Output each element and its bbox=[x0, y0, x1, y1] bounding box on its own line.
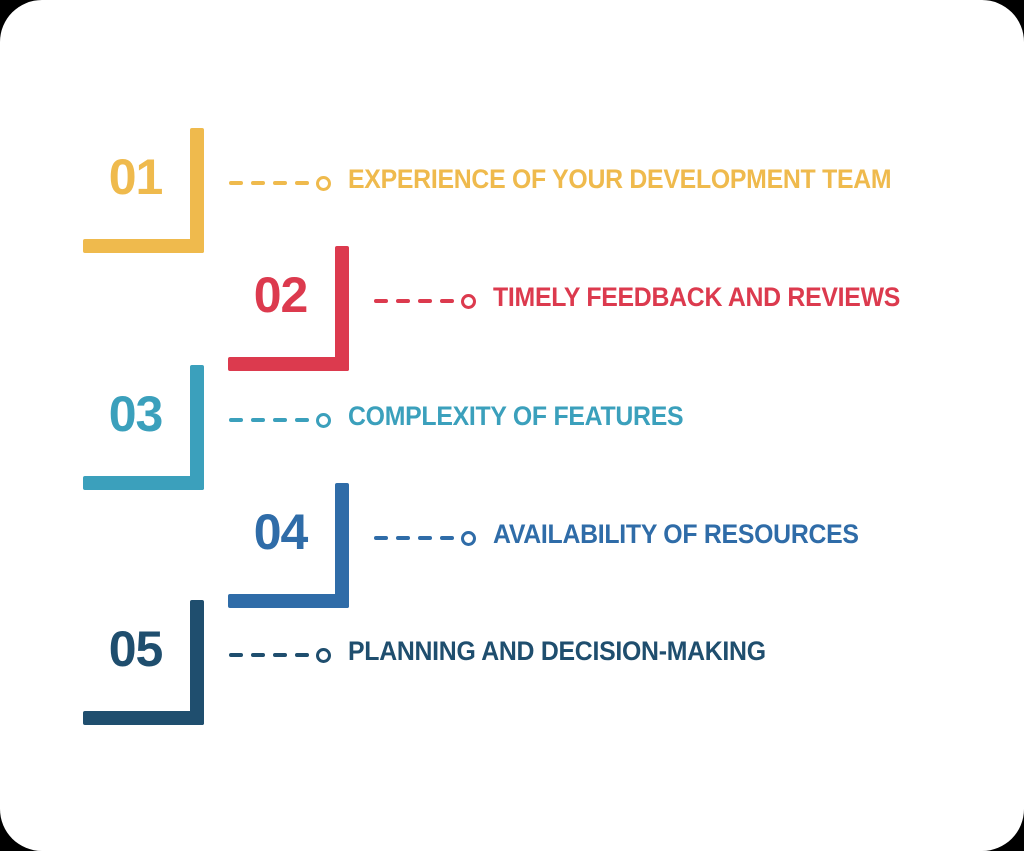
connector-dash bbox=[273, 653, 287, 657]
connector-dash bbox=[295, 181, 309, 185]
step-number: 05 bbox=[83, 620, 188, 678]
steps-list: 01EXPERIENCE OF YOUR DEVELOPMENT TEAM02T… bbox=[0, 0, 1024, 851]
connector-dash bbox=[374, 299, 388, 303]
connector-dash bbox=[396, 299, 410, 303]
connector-dash bbox=[229, 653, 243, 657]
bracket-horizontal-bar bbox=[228, 594, 349, 608]
bracket-horizontal-bar bbox=[228, 357, 349, 371]
step-label: PLANNING AND DECISION-MAKING bbox=[348, 633, 766, 669]
step-label: AVAILABILITY OF RESOURCES bbox=[493, 516, 859, 552]
connector-dash bbox=[440, 536, 454, 540]
bracket-horizontal-bar bbox=[83, 476, 204, 490]
bracket-vertical-bar bbox=[190, 365, 204, 490]
circle-icon bbox=[316, 413, 331, 428]
connector-dash bbox=[418, 536, 432, 540]
step-number: 03 bbox=[83, 385, 188, 443]
step-label: TIMELY FEEDBACK AND REVIEWS bbox=[493, 279, 900, 315]
step-label: EXPERIENCE OF YOUR DEVELOPMENT TEAM bbox=[348, 161, 891, 197]
connector-dash bbox=[273, 181, 287, 185]
connector-dash bbox=[440, 299, 454, 303]
bracket-horizontal-bar bbox=[83, 711, 204, 725]
connector-dash bbox=[229, 418, 243, 422]
dashed-connector bbox=[229, 174, 331, 192]
bracket-vertical-bar bbox=[335, 246, 349, 371]
dashed-connector bbox=[374, 292, 476, 310]
circle-icon bbox=[461, 294, 476, 309]
connector-dash bbox=[374, 536, 388, 540]
connector-dash bbox=[295, 418, 309, 422]
circle-icon bbox=[316, 176, 331, 191]
step-number: 04 bbox=[228, 503, 333, 561]
dashed-connector bbox=[229, 646, 331, 664]
connector-dash bbox=[273, 418, 287, 422]
connector-dash bbox=[251, 653, 265, 657]
connector-dash bbox=[295, 653, 309, 657]
connector-dash bbox=[229, 181, 243, 185]
step-number: 02 bbox=[228, 266, 333, 324]
bracket-vertical-bar bbox=[190, 128, 204, 253]
connector-dash bbox=[251, 181, 265, 185]
step-number: 01 bbox=[83, 148, 188, 206]
step-label: COMPLEXITY OF FEATURES bbox=[348, 398, 683, 434]
bracket-vertical-bar bbox=[190, 600, 204, 725]
dashed-connector bbox=[229, 411, 331, 429]
bracket-vertical-bar bbox=[335, 483, 349, 608]
connector-dash bbox=[251, 418, 265, 422]
circle-icon bbox=[316, 648, 331, 663]
infographic-card: 01EXPERIENCE OF YOUR DEVELOPMENT TEAM02T… bbox=[0, 0, 1024, 851]
dashed-connector bbox=[374, 529, 476, 547]
circle-icon bbox=[461, 531, 476, 546]
bracket-horizontal-bar bbox=[83, 239, 204, 253]
connector-dash bbox=[396, 536, 410, 540]
connector-dash bbox=[418, 299, 432, 303]
